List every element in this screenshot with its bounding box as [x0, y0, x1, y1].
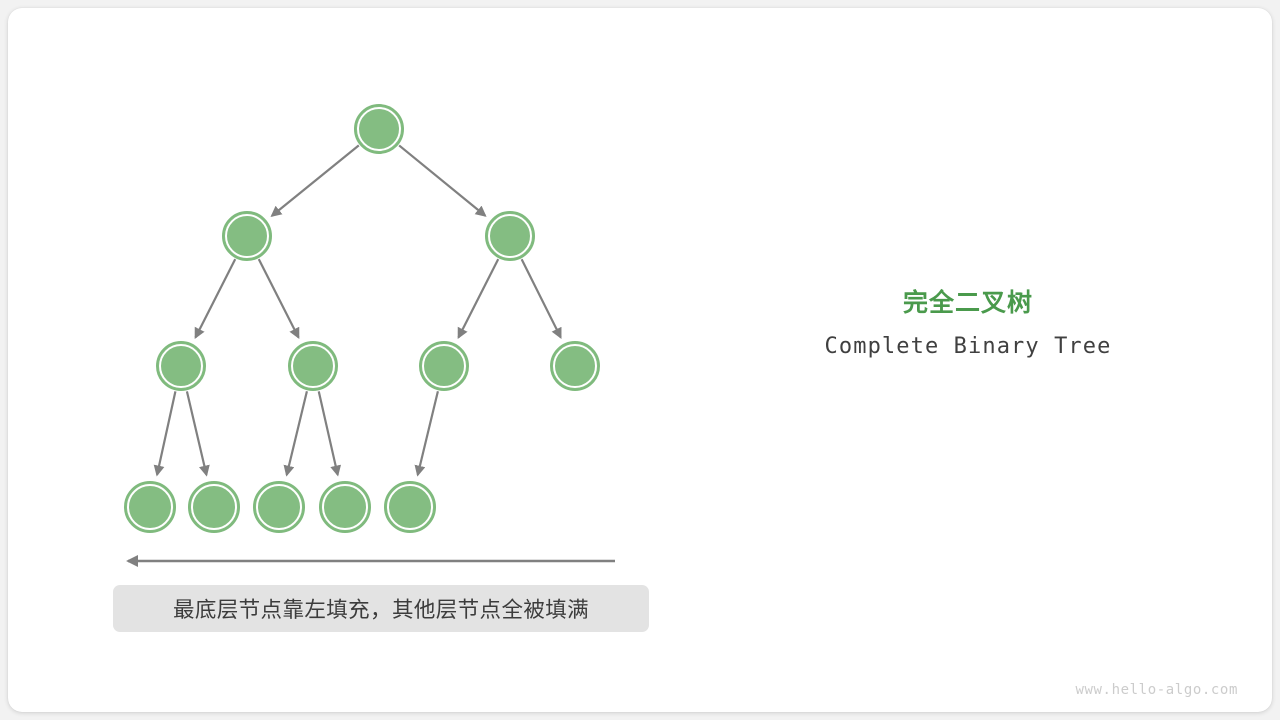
tree-edge [187, 391, 207, 475]
figure-canvas: 最底层节点靠左填充，其他层节点全被填满 完全二叉树 Complete Binar… [0, 0, 1280, 720]
tree-edge [272, 145, 359, 215]
tree-node [385, 482, 435, 532]
legend-subtitle: Complete Binary Tree [760, 334, 1176, 359]
tree-edge [259, 259, 299, 337]
tree-edge [319, 391, 338, 474]
node-inner-ring [554, 345, 596, 387]
tree-node [157, 342, 205, 390]
node-inner-ring [292, 345, 334, 387]
tree-node [125, 482, 175, 532]
node-inner-ring [388, 485, 432, 529]
tree-node [289, 342, 337, 390]
tree-edge [287, 391, 307, 475]
legend-title: 完全二叉树 [760, 288, 1176, 318]
tree-node [223, 212, 271, 260]
node-inner-ring [128, 485, 172, 529]
tree-node [320, 482, 370, 532]
caption-box: 最底层节点靠左填充，其他层节点全被填满 [113, 585, 649, 632]
node-inner-ring [192, 485, 236, 529]
tree-node [355, 105, 403, 153]
legend-block: 完全二叉树 Complete Binary Tree [760, 288, 1176, 359]
node-inner-ring [423, 345, 465, 387]
watermark-url: www.hello-algo.com [1075, 682, 1238, 698]
tree-edge [458, 259, 498, 337]
tree-nodes [125, 105, 599, 532]
tree-node [486, 212, 534, 260]
tree-edge [418, 391, 438, 475]
tree-edge [399, 145, 485, 215]
node-inner-ring [160, 345, 202, 387]
tree-node [420, 342, 468, 390]
tree-node [551, 342, 599, 390]
node-inner-ring [226, 215, 268, 257]
tree-edges [157, 145, 561, 475]
tree-edge [522, 259, 561, 337]
node-inner-ring [358, 108, 400, 150]
tree-edge [195, 259, 235, 337]
tree-node [254, 482, 304, 532]
tree-node [189, 482, 239, 532]
caption-text: 最底层节点靠左填充，其他层节点全被填满 [173, 593, 589, 624]
tree-edge [157, 391, 175, 474]
node-inner-ring [257, 485, 301, 529]
node-inner-ring [323, 485, 367, 529]
node-inner-ring [489, 215, 531, 257]
